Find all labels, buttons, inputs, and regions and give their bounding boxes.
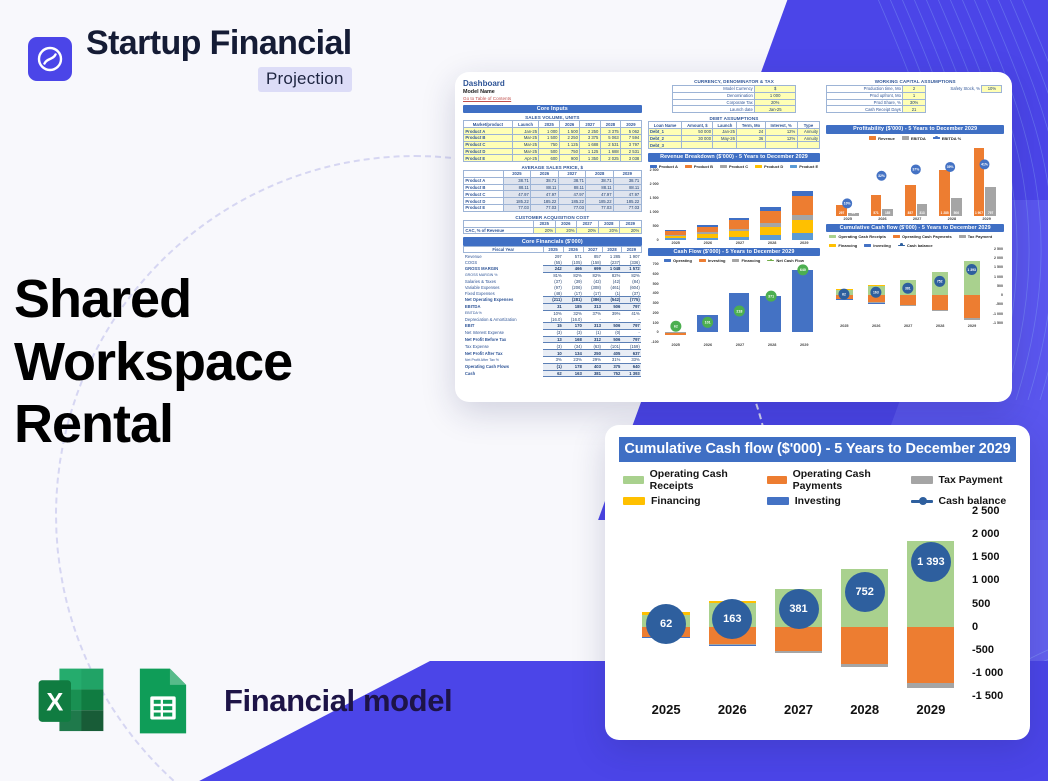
axis-tick: -1 500 (993, 321, 1003, 325)
table-row: Product C Mar-25 750 1 125 1 688 2 531 3… (464, 141, 642, 148)
table-row: Product A 38.71 38.71 38.71 38.71 38.71 (464, 177, 642, 184)
axis-category: 2025 (843, 217, 851, 221)
svg-text:X: X (46, 688, 63, 716)
bar-group (729, 170, 750, 240)
col-header: 2029 (622, 246, 641, 253)
axis-tick: 0 (972, 621, 978, 633)
table-row: Cash Receipt Days 21 (827, 106, 925, 113)
col-header: 2028 (586, 171, 614, 178)
dashboard-heading: Dashboard (463, 79, 642, 88)
debt-assumptions-table: Loan Name Amount, $ Launch Term, Mo Inte… (648, 121, 821, 149)
safety-stock-table: Safety Stock, % 10% (928, 85, 1003, 93)
revenue-breakdown-chart: Product A Product B Product C Product D … (648, 164, 821, 245)
cash-flow-title: Cash Flow ($'000) - 5 Years to December … (648, 248, 821, 256)
core-financials-table: Fiscal Year 2025 2026 2027 2028 2029 Rev… (463, 246, 642, 378)
axis-tick: 300 (653, 301, 659, 305)
cash-flow-legend: Operating Investing Financing Net Cash F… (648, 258, 821, 263)
col-header: 2026 (563, 246, 583, 253)
bar-group (697, 170, 718, 240)
axis-category: 2026 (704, 343, 712, 347)
axis-category: 2026 (704, 241, 712, 245)
core-financials-band: Core Financials ($'000) (463, 237, 642, 245)
axis-category: 2029 (903, 702, 959, 717)
axis-category: 2026 (878, 217, 886, 221)
legend-label: Operating (673, 258, 692, 263)
col-header: Term, Mo (737, 122, 765, 129)
svg-text:32%: 32% (878, 173, 885, 177)
col-header: Amount, $ (682, 122, 713, 129)
svg-text:218: 218 (736, 309, 742, 313)
table-row: Product D 185.22 185.22 185.22 185.22 18… (464, 198, 642, 205)
axis-category: 2028 (948, 217, 956, 221)
axis-category: 2028 (768, 343, 776, 347)
revenue-breakdown-title: Revenue Breakdown ($'000) - 5 Years to D… (648, 153, 821, 161)
cash-flow-chart: Operating Investing Financing Net Cash F… (648, 258, 821, 347)
legend-label: Financing (838, 243, 857, 248)
svg-text:10%: 10% (844, 201, 851, 205)
sales-volume-table: Market/product Launch 2025 2026 2027 202… (463, 120, 642, 162)
axis-tick: -100 (651, 340, 658, 344)
axis-category: 2027 (913, 217, 921, 221)
axis-tick: -500 (972, 644, 994, 656)
table-row: Product A Jan-25 1 000 1 500 2 250 3 375… (464, 128, 642, 135)
axis-tick: 2 500 (994, 247, 1003, 251)
cumulative-cash-flow-chart-mini: Operating Cash ReceiptsOperating Cash Pa… (826, 234, 1004, 328)
dashboard-right-column: WORKING CAPITAL ASSUMPTIONS Production t… (826, 79, 1004, 328)
axis-tick: 200 (653, 311, 659, 315)
axis-tick: 1 000 (650, 210, 659, 214)
svg-text:41%: 41% (981, 162, 988, 166)
svg-text:371: 371 (768, 294, 774, 298)
data-point-label: 163 (712, 599, 752, 639)
col-header: Launch (713, 122, 737, 129)
col-header: 2025 (503, 171, 531, 178)
col-header: 2026 (555, 220, 577, 227)
col-header: Interest, % (765, 122, 797, 129)
legend-label: Product B (694, 164, 713, 169)
google-sheets-icon (126, 664, 200, 738)
axis-tick: 0 (657, 238, 659, 242)
table-row: Operating Cash Flows(1)178403375640 (464, 363, 642, 370)
axis-category: 2025 (671, 241, 679, 245)
model-name-label: Model Name (463, 89, 642, 95)
axis-tick: 1 500 (994, 265, 1003, 269)
dashboard-preview-card[interactable]: Dashboard Model Name Go to Table of Cont… (455, 72, 1012, 402)
col-header: 2025 (543, 246, 563, 253)
profitability-title: Profitability ($'000) - 5 Years to Decem… (826, 125, 1004, 133)
axis-tick: 1 500 (972, 551, 1000, 563)
working-capital-table: Production time, Mo 2 Prod upfront, Mo 1… (826, 85, 925, 113)
svg-text:752: 752 (937, 280, 943, 284)
col-header: Loan Name (648, 122, 682, 129)
data-point-label: 381 (779, 589, 819, 629)
axis-tick: 1 500 (650, 196, 659, 200)
currency-section-title: CURRENCY, DENOMINATOR & TAX (648, 79, 821, 84)
cumulative-cash-flow-legend: Operating Cash ReceiptsOperating Cash Pa… (623, 468, 1014, 507)
table-row: Net Profit After Tax10134250405637 (464, 350, 642, 357)
y-axis-labels: 2 5002 0001 5001 0005000-500-1 000-1 500 (966, 511, 1016, 696)
axis-tick: 2 500 (650, 168, 659, 172)
average-price-table: 2025 2026 2027 2028 2029 Product A 38.71… (463, 170, 642, 212)
legend-label: Product E (799, 164, 818, 169)
axis-tick: 500 (972, 598, 990, 610)
legend-label: Operating Cash Receipts (838, 234, 886, 239)
axis-category: 2029 (982, 217, 990, 221)
axis-category: 2026 (704, 702, 760, 717)
table-row: Model Currency $ (672, 86, 795, 93)
axis-tick: 100 (653, 321, 659, 325)
axis-category: 2027 (736, 343, 744, 347)
file-format-row: X Financial model (34, 664, 452, 738)
col-header: 2029 (613, 171, 641, 178)
page-title: Shared Workspace Rental (14, 268, 394, 456)
svg-text:640: 640 (799, 268, 805, 272)
svg-text:381: 381 (905, 286, 911, 290)
legend-label: Investing (795, 495, 841, 507)
legend-label: EBITDA (911, 136, 926, 141)
col-header: 2029 (621, 121, 641, 128)
axis-tick: -1 500 (972, 690, 1003, 702)
cumulative-cash-flow-title: Cumulative Cash flow ($'000) - 5 Years t… (619, 437, 1016, 462)
axis-category: 2027 (736, 241, 744, 245)
axis-tick: -500 (996, 302, 1003, 306)
table-row: Product E Apr-25 600 900 1 350 2 025 3 0… (464, 155, 642, 162)
col-header: 2026 (531, 171, 559, 178)
axis-tick: 2 500 (972, 505, 1000, 517)
axis-tick: 500 (997, 284, 1003, 288)
dashboard-inputs-column: Dashboard Model Name Go to Table of Cont… (463, 79, 642, 377)
svg-text:163: 163 (873, 290, 879, 294)
col-header: Market/product (464, 121, 513, 128)
cumulative-cash-flow-plot: 2 5002 0001 5001 0005000-500-1 000-1 500… (619, 511, 1016, 696)
col-header: 2028 (600, 121, 620, 128)
axis-category: 2025 (671, 343, 679, 347)
table-row: Net Profit After Tax %3%23%29%31%33% (464, 356, 642, 363)
axis-category: 2026 (872, 324, 880, 328)
microsoft-excel-icon: X (34, 664, 108, 738)
brand-subtitle: Projection (258, 67, 352, 92)
data-point-label: 752 (845, 572, 885, 612)
x-axis-categories: 20252026202720282029 (619, 702, 1016, 717)
table-row: Net Operating Expenses(211)(281)(386)(54… (464, 296, 642, 303)
table-row: Debt_2 30 000 May-26 36 12% Annuity (648, 135, 820, 142)
profitability-chart: Revenue EBITDA EBITDA % 2973157118585731… (826, 136, 1004, 221)
axis-tick: 500 (653, 224, 659, 228)
axis-category: 2028 (936, 324, 944, 328)
revenue-breakdown-legend: Product A Product B Product C Product D … (648, 164, 821, 169)
axis-tick: -1 000 (972, 667, 1003, 679)
col-header: 2027 (580, 121, 600, 128)
table-row: Net Profit Before Tax13168312506797 (464, 336, 642, 343)
brand-title: Startup Financial (86, 26, 352, 62)
legend-label: Product D (764, 164, 783, 169)
table-row: CAC, % of Revenue 20% 20% 20% 20% 20% (464, 227, 642, 234)
table-of-contents-link[interactable]: Go to Table of Contents (463, 96, 642, 101)
axis-tick: 400 (653, 291, 659, 295)
axis-category: 2025 (638, 702, 694, 717)
cumulative-cash-flow-title-mini: Cumulative Cash flow ($'000) - 5 Years t… (826, 224, 1004, 232)
currency-table: Model Currency $ Denomination 1 000 Corp… (672, 85, 796, 113)
legend-label: Tax Payment (939, 474, 1003, 486)
table-row: Launch date Jan-25 (672, 106, 795, 113)
table-row: Denomination 1 000 (672, 92, 795, 99)
axis-tick: 700 (653, 262, 659, 266)
cumulative-cash-flow-legend-mini: Operating Cash ReceiptsOperating Cash Pa… (826, 234, 1004, 248)
bar-group (665, 170, 686, 240)
col-header: 2025 (534, 220, 556, 227)
col-header: 2029 (620, 220, 642, 227)
table-row: Cash621633817521 393 (464, 370, 642, 377)
axis-tick: 500 (653, 282, 659, 286)
table-row: EBITDA31185313506797 (464, 303, 642, 310)
table-row: Product B 88.11 88.11 88.11 88.11 88.11 (464, 184, 642, 191)
data-point-label: 62 (646, 604, 686, 644)
axis-tick: 0 (657, 330, 659, 334)
axis-tick: 2 000 (994, 256, 1003, 260)
profitability-legend: Revenue EBITDA EBITDA % (826, 136, 1004, 141)
legend-label: Net Cash Flow (776, 258, 804, 263)
legend-label: Revenue (878, 136, 895, 141)
legend-label: Operating Cash Payments (793, 468, 911, 492)
axis-category: 2029 (968, 324, 976, 328)
col-header: Fiscal Year (464, 246, 544, 253)
axis-tick: 0 (1001, 293, 1003, 297)
table-row: GROSS MARGIN2424666991 0481 572 (464, 266, 642, 273)
axis-tick: 2 000 (972, 528, 1000, 540)
table-row: Tax Expense(3)(34)(63)(101)(159) (464, 343, 642, 350)
legend-label: Financing (651, 495, 701, 507)
table-row: EBIT15170313506797 (464, 323, 642, 330)
legend-label: Investing (708, 258, 726, 263)
table-row: Prod upfront, Mo 1 (827, 92, 925, 99)
col-header: 2025 (539, 121, 559, 128)
col-header: 2028 (602, 246, 621, 253)
cac-table: 2025 2026 2027 2028 2029 CAC, % of Reven… (463, 220, 642, 235)
axis-tick: 600 (653, 272, 659, 276)
col-header: 2027 (558, 171, 586, 178)
axis-category: 2029 (800, 343, 808, 347)
legend-label: Cash balance (907, 243, 933, 248)
axis-category: 2029 (800, 241, 808, 245)
axis-tick: 2 000 (650, 182, 659, 186)
svg-text:39%: 39% (947, 165, 954, 169)
table-row: Debt_3 (648, 142, 820, 149)
table-row: Net Interest Expense(3)(3)(1)(0)- (464, 329, 642, 336)
axis-category: 2027 (904, 324, 912, 328)
bar-group (760, 170, 781, 240)
col-header: 2027 (583, 246, 602, 253)
svg-text:1 393: 1 393 (968, 268, 977, 272)
col-header: 2027 (577, 220, 599, 227)
legend-label: Investing (873, 243, 891, 248)
axis-category: 2028 (768, 241, 776, 245)
table-row: Product B Mar-25 1 500 2 250 3 375 5 063… (464, 134, 642, 141)
table-row: Corporate Tax 20% (672, 99, 795, 106)
file-format-label: Financial model (224, 683, 452, 719)
legend-label: EBITDA % (942, 136, 961, 141)
legend-label: Financing (741, 258, 760, 263)
table-row: Production time, Mo 2 (827, 86, 925, 93)
svg-text:101: 101 (704, 321, 710, 325)
legend-label: Operating Cash Payments (902, 234, 952, 239)
legend-label: Operating Cash Receipts (650, 468, 767, 492)
bar-group (792, 170, 813, 240)
axis-category: 2025 (840, 324, 848, 328)
swirl-logo-icon (28, 37, 72, 81)
legend-label: Product A (659, 164, 678, 169)
core-inputs-band: Core Inputs (463, 105, 642, 113)
data-point-label: 1 393 (911, 542, 951, 582)
col-header: 2028 (598, 220, 620, 227)
col-header: Launch (512, 121, 539, 128)
table-row: Product E 77.03 77.03 77.03 77.03 77.03 (464, 204, 642, 211)
table-row: Prod Share, % 30% (827, 99, 925, 106)
axis-tick: -1 000 (993, 312, 1003, 316)
svg-text:62: 62 (673, 325, 677, 329)
axis-category: 2027 (770, 702, 826, 717)
cumulative-cash-flow-card[interactable]: Cumulative Cash flow ($'000) - 5 Years t… (605, 425, 1030, 740)
axis-tick: 1 000 (994, 275, 1003, 279)
legend-label: Tax Payment (968, 234, 992, 239)
table-row: Debt_1 50 000 Jan-25 24 12% Annuity (648, 128, 820, 135)
table-row: Safety Stock, % 10% (928, 86, 1002, 93)
brand-lockup: Startup Financial Projection (28, 26, 352, 92)
svg-text:62: 62 (842, 292, 846, 296)
col-header: 2026 (559, 121, 579, 128)
svg-text:37%: 37% (913, 167, 920, 171)
axis-category: 2028 (837, 702, 893, 717)
working-capital-title: WORKING CAPITAL ASSUMPTIONS (826, 79, 1004, 84)
table-row: Product D Mar-25 500 750 1 125 1 688 2 5… (464, 148, 642, 155)
dashboard-middle-column: CURRENCY, DENOMINATOR & TAX Model Curren… (648, 79, 821, 347)
axis-tick: 1 000 (972, 574, 1000, 586)
col-header: Type (797, 122, 820, 129)
legend-label: Product C (729, 164, 748, 169)
table-row: Product C 47.97 47.97 47.97 47.97 47.97 (464, 191, 642, 198)
